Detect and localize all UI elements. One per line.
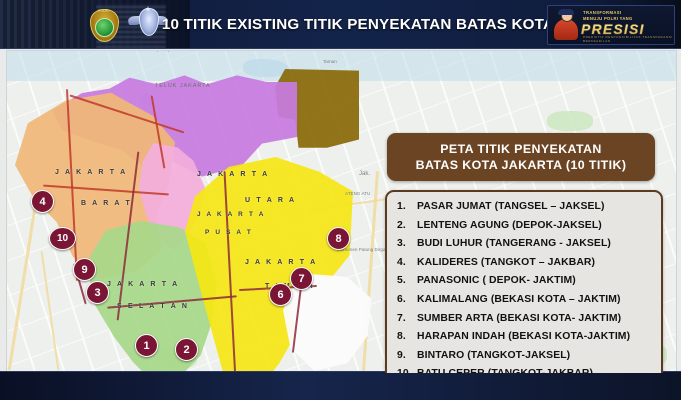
list-item-label: PASAR JUMAT (TANGSEL – JAKSEL) [417, 198, 657, 217]
list-item[interactable]: 10. BATU CEPER (TANGKOT-JAKBAR) [397, 365, 657, 374]
info-panel: PETA TITIK PENYEKATAN BATAS KOTA JAKARTA… [381, 133, 669, 374]
map-marker-7[interactable]: 7 [290, 267, 313, 290]
polri-emblem-icon: POLRI [88, 8, 119, 41]
label-taman: Taman [323, 59, 337, 64]
slide-footer-bar [0, 371, 681, 400]
list-item-label: KALIMALANG (BEKASI KOTA – JAKTIM) [417, 291, 657, 310]
label-jakarta-barat-line2: B A R A T [81, 200, 132, 207]
map-marker-2[interactable]: 2 [175, 338, 198, 361]
list-item-label: KALIDERES (TANGKOT – JAKBAR) [417, 254, 657, 273]
info-panel-title-line1: PETA TITIK PENYEKATAN [440, 141, 601, 157]
list-item[interactable]: 6. KALIMALANG (BEKASI KOTA – JAKTIM) [397, 291, 657, 310]
label-jakarta-timur-line1: J A K A R T A [245, 259, 317, 266]
map-container[interactable]: J A K A R T A B A R A T J A K A R T A U … [6, 50, 677, 374]
list-item-number: 2. [397, 217, 417, 236]
info-panel-title-line2: BATAS KOTA JAKARTA (10 TITIK) [416, 157, 627, 173]
officer-cap-shape [558, 9, 574, 15]
label-museum-macan: Museum Macan Modern and Contemporary Art [81, 50, 191, 52]
label-jak: Jak. [359, 171, 370, 177]
list-item[interactable]: 1. PASAR JUMAT (TANGSEL – JAKSEL) [397, 198, 657, 217]
label-jakarta-barat-line1: J A K A R T A [55, 169, 127, 176]
label-jakarta-utara-line2: U T A R A [245, 197, 296, 204]
list-item-number: 3. [397, 235, 417, 254]
list-item-label: SUMBER ARTA (BEKASI KOTA- JAKTIM) [417, 310, 657, 329]
emblem-core-shape [139, 8, 159, 36]
park-area-north [547, 111, 593, 131]
map-marker-8[interactable]: 8 [327, 227, 350, 250]
polri-emblem-inner-circle [95, 18, 114, 37]
list-item-number: 8. [397, 328, 417, 347]
checkpoint-list: 1. PASAR JUMAT (TANGSEL – JAKSEL) 2. LEN… [385, 190, 663, 374]
label-jakarta-selatan-line1: J A K A R T A [107, 281, 179, 288]
label-jakarta-selatan-line2: S E L A T A N [117, 303, 189, 310]
list-item-label: HARAPAN INDAH (BEKASI KOTA-JAKTIM) [417, 328, 657, 347]
polri-emblem-caption: POLRI [92, 9, 115, 13]
list-item-number: 6. [397, 291, 417, 310]
list-item-number: 4. [397, 254, 417, 273]
map-marker-9[interactable]: 9 [73, 258, 96, 281]
list-item-label: BINTARO (TANGKOT-JAKSEL) [417, 347, 657, 366]
list-item-label: BATU CEPER (TANGKOT-JAKBAR) [417, 365, 657, 374]
list-item-number: 7. [397, 310, 417, 329]
map-marker-10[interactable]: 10 [49, 227, 76, 250]
list-item-number: 1. [397, 198, 417, 217]
label-teluk-jakarta: TELUK JAKARTA [155, 83, 211, 89]
label-cateng-atu: ATENG ATU [345, 191, 370, 196]
list-item[interactable]: 7. SUMBER ARTA (BEKASI KOTA- JAKTIM) [397, 310, 657, 329]
label-jakarta-pusat-line2: P U S A T [205, 229, 253, 236]
list-item[interactable]: 8. HARAPAN INDAH (BEKASI KOTA-JAKTIM) [397, 328, 657, 347]
list-item-number: 9. [397, 347, 417, 366]
map-marker-4[interactable]: 4 [31, 190, 54, 213]
officer-body-shape [554, 19, 578, 40]
map-marker-3[interactable]: 3 [86, 281, 109, 304]
list-item[interactable]: 3. BUDI LUHUR (TANGERANG - JAKSEL) [397, 235, 657, 254]
list-item[interactable]: 2. LENTENG AGUNG (DEPOK-JAKSEL) [397, 217, 657, 236]
map-marker-1[interactable]: 1 [135, 334, 158, 357]
info-panel-title: PETA TITIK PENYEKATAN BATAS KOTA JAKARTA… [387, 133, 655, 181]
list-item-number: 5. [397, 272, 417, 291]
presentation-slide: POLRI 10 TITIK EXISTING TITIK PENYEKATAN… [0, 0, 681, 400]
list-item-number: 10. [397, 365, 417, 374]
label-jakarta-pusat-line1: J A K A R T A [197, 211, 266, 218]
list-item[interactable]: 5. PANASONIC ( DEPOK- JAKTIM) [397, 272, 657, 291]
slide-title: 10 TITIK EXISTING TITIK PENYEKATAN BATAS… [168, 0, 548, 48]
presisi-line1: TRANSFORMASI [583, 10, 622, 15]
map-marker-6[interactable]: 6 [269, 283, 292, 306]
presisi-logo: TRANSFORMASI MENUJU POLRI YANG PRESISI P… [547, 5, 675, 45]
bay-inlet-water [243, 59, 289, 77]
label-jakarta-utara-line1: J A K A R T A [197, 171, 269, 178]
list-item-label: LENTENG AGUNG (DEPOK-JAKSEL) [417, 217, 657, 236]
list-item[interactable]: 9. BINTARO (TANGKOT-JAKSEL) [397, 347, 657, 366]
jakarta-map[interactable]: J A K A R T A B A R A T J A K A R T A U … [7, 51, 676, 373]
list-item-label: PANASONIC ( DEPOK- JAKTIM) [417, 272, 657, 291]
list-item[interactable]: 4. KALIDERES (TANGKOT – JAKBAR) [397, 254, 657, 273]
slide-header: POLRI 10 TITIK EXISTING TITIK PENYEKATAN… [0, 0, 681, 49]
presisi-tagline: PREDIKTIF RESPONSIBILITAS TRANSPARANSI B… [583, 35, 674, 43]
list-item-label: BUDI LUHUR (TANGERANG - JAKSEL) [417, 235, 657, 254]
presisi-officer-figure-icon [553, 10, 579, 40]
